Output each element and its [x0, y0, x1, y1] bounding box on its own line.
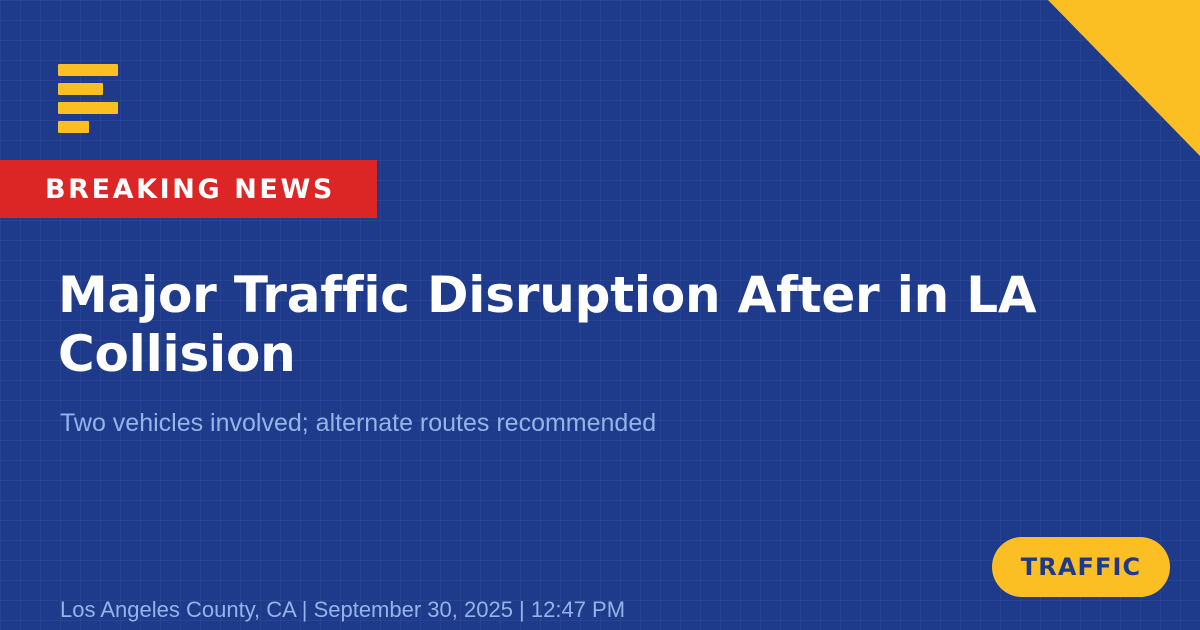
- breaking-news-card: BREAKING NEWS Major Traffic Disruption A…: [0, 0, 1200, 630]
- logo-bar-4: [58, 121, 89, 133]
- footer-meta-text: Los Angeles County, CA | September 30, 2…: [60, 597, 625, 623]
- corner-triangle-decoration: [1048, 0, 1200, 156]
- logo-bar-2: [58, 83, 103, 95]
- brand-logo: [58, 64, 118, 133]
- breaking-news-label: BREAKING NEWS: [45, 176, 335, 203]
- category-badge-label: TRAFFIC: [1021, 555, 1141, 579]
- logo-bar-1: [58, 64, 118, 76]
- headline-text: Major Traffic Disruption After in LA Col…: [58, 266, 1068, 384]
- subtitle-text: Two vehicles involved; alternate routes …: [60, 408, 656, 438]
- logo-bar-3: [58, 102, 118, 114]
- category-badge: TRAFFIC: [992, 537, 1170, 597]
- breaking-news-banner: BREAKING NEWS: [0, 160, 377, 218]
